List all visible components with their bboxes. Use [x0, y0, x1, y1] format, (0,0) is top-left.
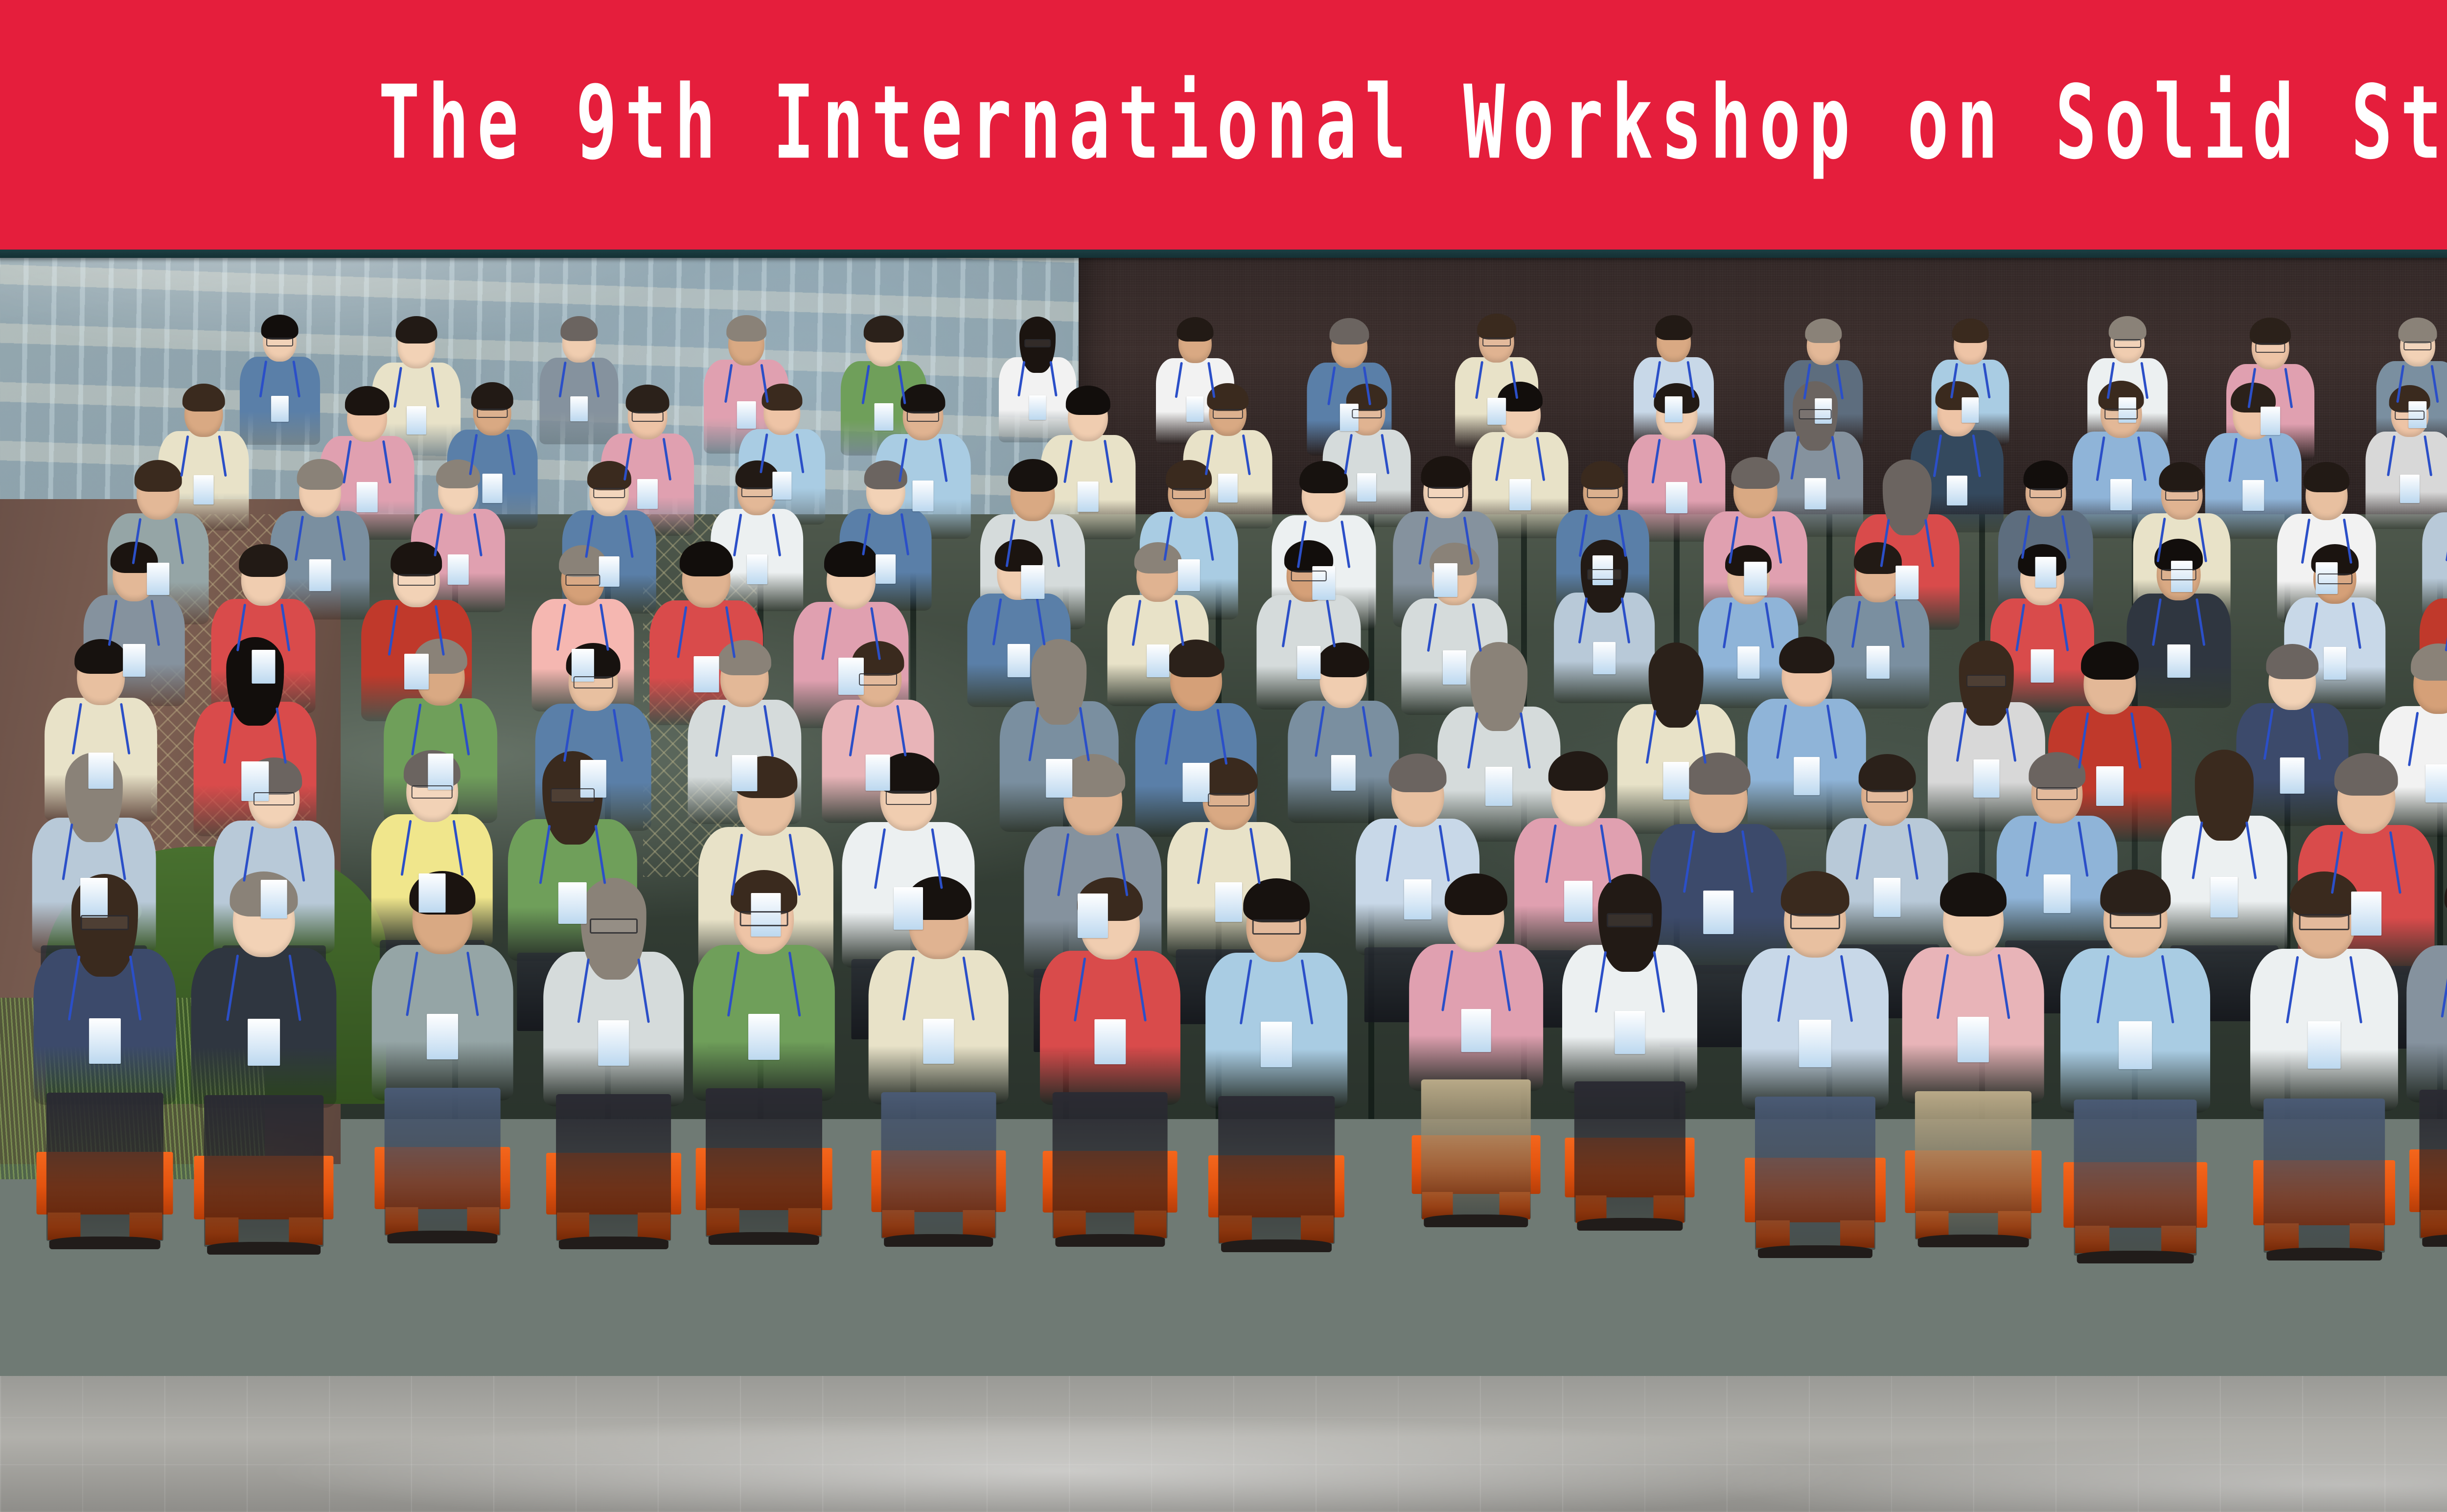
attendee-name-badge: [2035, 557, 2056, 588]
attendee-lanyard: [236, 955, 291, 1022]
attendee-name-badge: [147, 563, 169, 596]
attendee: [1815, 386, 1816, 543]
attendee-lanyard: [232, 708, 278, 764]
attendee-lanyard: [1586, 597, 1623, 644]
attendee-hair: [863, 316, 904, 343]
attendee-glasses: [739, 911, 788, 926]
attendee-hair: [2303, 462, 2350, 493]
attendee-hair: [1655, 315, 1693, 340]
attendee-lanyard: [857, 705, 899, 757]
attendee-name-badge: [732, 755, 757, 791]
attendee: [1343, 648, 1343, 830]
attendee-hair: [626, 385, 669, 413]
attendee-glasses: [477, 409, 508, 418]
attendee-hair: [2109, 316, 2147, 341]
attendee: [458, 464, 459, 618]
attendee-name-badge: [1215, 882, 1243, 922]
attendee-glasses: [1867, 790, 1908, 803]
attendee-hair: [727, 315, 766, 342]
attendee-name-badge: [2243, 480, 2264, 511]
attendee-name-badge: [923, 1019, 954, 1064]
attendee: [613, 885, 614, 1115]
attendee-lanyard: [1784, 705, 1829, 759]
attendee-lanyard: [265, 361, 295, 398]
conference-group-photo-poster: The 9th International Workshop on Solid …: [0, 0, 2447, 1512]
attendee-name-badge: [1564, 881, 1593, 922]
attendee-lanyard: [765, 434, 798, 474]
attendee-glasses: [741, 487, 773, 497]
attendee: [1878, 548, 1878, 715]
attendee-lanyard: [1013, 519, 1052, 568]
attendee-lanyard: [2296, 956, 2352, 1024]
attendee-name-badge: [1147, 644, 1170, 677]
attendee: [2324, 879, 2325, 1121]
attendee-hair: [1421, 456, 1471, 489]
attendee-name-badge: [1593, 642, 1616, 674]
attendee-lanyard: [1787, 955, 1842, 1023]
attendee-name-badge: [1443, 650, 1466, 685]
attendee-shoes: [207, 1242, 321, 1255]
attendee-lanyard: [1139, 600, 1177, 646]
attendee-name-badge: [772, 472, 791, 500]
attendee-lanyard: [1659, 361, 1688, 398]
attendee: [938, 884, 939, 1113]
attendee-lanyard: [1394, 825, 1441, 882]
attendee-name-badge: [89, 1018, 120, 1064]
attendee-name-badge: [1357, 473, 1377, 502]
attendee-hair: [1805, 319, 1842, 343]
attendee: [1499, 648, 1499, 849]
attendee-legs: [1915, 1091, 2031, 1239]
attendee: [1476, 881, 1477, 1100]
attendee-hair: [901, 384, 946, 414]
attendee: [2253, 388, 2254, 545]
attendee-glasses: [397, 574, 435, 586]
attendee-lanyard: [731, 364, 762, 403]
attendee-name-badge: [2425, 764, 2447, 802]
attendee: [320, 464, 320, 626]
attendee: [416, 321, 416, 466]
attendee-glasses: [412, 785, 453, 799]
attendee-glasses: [565, 574, 600, 585]
attendee-glasses: [859, 673, 897, 686]
attendee: [1887, 761, 1888, 961]
attendee-lanyard: [1322, 706, 1364, 757]
attendee: [105, 882, 105, 1114]
attendee-lanyard: [349, 440, 385, 484]
attendee-name-badge: [1021, 565, 1044, 599]
attendee-lanyard: [905, 438, 941, 482]
attendee-name-badge: [428, 754, 453, 790]
attendee: [1604, 545, 1605, 710]
attendee-glasses: [551, 788, 595, 802]
attendee-name-badge: [1665, 396, 1683, 422]
attendee-glasses: [1172, 488, 1205, 499]
attendee-name-badge: [1078, 481, 1099, 512]
attendee-glasses: [2036, 787, 2078, 800]
attendee-glasses: [1799, 409, 1832, 419]
attendee-name-badge: [123, 644, 145, 676]
attendee-hair: [1066, 386, 1110, 415]
attendee: [1957, 387, 1957, 539]
attendee-lanyard: [1023, 361, 1052, 397]
attendee-glasses: [590, 918, 638, 934]
attendee-lanyard: [1659, 439, 1695, 484]
attendee-lanyard: [2028, 515, 2064, 559]
attendee-name-badge: [1434, 563, 1457, 597]
attendee-name-badge: [1182, 763, 1209, 802]
attendee: [1718, 760, 1719, 983]
attendee-name-badge: [404, 654, 429, 689]
attendee-name-badge: [357, 482, 378, 512]
attendee-name-badge: [1487, 398, 1506, 425]
attendee-name-badge: [1744, 562, 1767, 595]
attendee-lanyard: [1730, 602, 1767, 649]
attendee-name-badge: [1029, 395, 1046, 420]
attendee-lanyard: [1290, 600, 1329, 648]
attendee-shoes: [1056, 1234, 1165, 1247]
attendee: [203, 389, 204, 536]
attendee-name-badge: [1873, 878, 1900, 917]
attendee-name-badge: [1615, 1011, 1645, 1054]
attendee-name-badge: [2280, 757, 2305, 794]
attendee-lanyard: [2107, 955, 2164, 1024]
attendee-name-badge: [1799, 1020, 1831, 1067]
event-banner: The 9th International Workshop on Solid …: [0, 0, 2447, 250]
attendee-name-badge: [89, 753, 114, 789]
attendee-name-badge: [571, 396, 588, 422]
attendee-name-badge: [418, 873, 445, 913]
attendee-lanyard: [1070, 440, 1106, 483]
attendee: [1578, 758, 1578, 967]
attendee-lanyard: [1476, 712, 1522, 769]
attendee-lanyard: [80, 703, 122, 755]
attendee-name-badge: [248, 1019, 280, 1066]
attendee-name-badge: [1461, 1009, 1491, 1052]
attendee-name-badge: [1178, 559, 1200, 591]
attendee-legs: [204, 1095, 323, 1247]
attendee-shoes: [2077, 1251, 2194, 1263]
attendee-lanyard: [564, 604, 602, 651]
attendee: [2292, 650, 2292, 834]
attendee: [1276, 886, 1277, 1118]
attendee-glasses: [2030, 488, 2062, 499]
attendee: [2110, 648, 2110, 850]
attendee: [1018, 545, 1019, 713]
attendee-lanyard: [139, 518, 177, 565]
attendee: [134, 547, 135, 712]
attendee-lanyard: [395, 605, 437, 656]
attendee-shoes: [709, 1232, 819, 1245]
attendee-lanyard: [440, 513, 476, 557]
attendee-hair: [471, 382, 514, 410]
attendee-lanyard: [1481, 361, 1512, 399]
attendee-name-badge: [2044, 874, 2071, 913]
attendee-name-badge: [1663, 762, 1689, 800]
attendee-lanyard: [2341, 831, 2392, 894]
attendee-name-badge: [874, 403, 893, 431]
attendee: [1676, 649, 1676, 842]
attendee-legs: [556, 1094, 671, 1241]
attendee-lanyard: [2087, 712, 2133, 769]
attendee-hair: [2024, 460, 2068, 490]
attendee-hair: [561, 316, 598, 341]
attendee-name-badge: [894, 887, 923, 930]
attendee-name-badge: [2111, 479, 2132, 510]
attendee: [2178, 544, 2179, 714]
attendee-lanyard: [1888, 519, 1927, 568]
attendee: [2057, 759, 2057, 956]
attendee: [1630, 881, 1630, 1102]
attendee-glasses: [2165, 490, 2198, 501]
attendee-lanyard: [1864, 824, 1910, 880]
attendee-hair: [1177, 317, 1213, 342]
attendee-lanyard: [1205, 828, 1251, 885]
attendee-shoes: [388, 1231, 498, 1243]
attendee-lanyard: [2271, 709, 2313, 760]
attendee-legs: [1218, 1096, 1334, 1244]
attendee-lanyard: [400, 367, 433, 408]
attendee-name-badge: [2031, 649, 2054, 683]
attendee-name-badge: [2096, 766, 2124, 806]
attendee: [885, 465, 886, 617]
attendee: [1158, 548, 1158, 713]
attendee-lanyard: [244, 604, 283, 652]
attendee: [1806, 643, 1807, 837]
attendee: [1195, 321, 1195, 450]
attendee: [1366, 388, 1367, 532]
attendee-name-badge: [2119, 1021, 2152, 1069]
attendee-lanyard: [740, 834, 791, 896]
attendee-name-badge: [1805, 478, 1826, 509]
attendee-lanyard: [630, 438, 665, 481]
attendee: [1227, 388, 1228, 534]
attendee-name-badge: [1973, 759, 1999, 797]
attendee-name-badge: [2324, 647, 2346, 680]
attendee-legs: [46, 1093, 163, 1241]
attendee-lanyard: [723, 705, 766, 757]
attendee: [572, 758, 573, 969]
attendee-name-badge: [1958, 1017, 1989, 1062]
attendee-name-badge: [913, 481, 934, 511]
attendee-legs: [1421, 1079, 1531, 1219]
attendee-name-badge: [747, 554, 767, 584]
attendee-lanyard: [2164, 518, 2200, 563]
attendee-lanyard: [2308, 519, 2345, 564]
attendee-hair: [2445, 871, 2447, 915]
attendee: [609, 466, 609, 620]
attendee-name-badge: [1007, 644, 1030, 677]
attendee-glasses: [1252, 919, 1301, 935]
attendee: [1986, 647, 1986, 839]
attendee-glasses: [632, 412, 664, 421]
attendee-lanyard: [419, 704, 462, 756]
attendee-lanyard: [1502, 437, 1538, 481]
attendee-lanyard: [1173, 709, 1219, 765]
attendee-name-badge: [2308, 1021, 2341, 1069]
attendee-glasses: [2114, 339, 2141, 348]
attendee-legs: [2420, 1090, 2447, 1238]
attendee-name-badge: [599, 556, 620, 587]
attendee-lanyard: [2254, 368, 2286, 409]
attendee-legs: [2263, 1099, 2385, 1253]
attendee-lanyard: [252, 826, 297, 882]
attendee-lanyard: [2159, 598, 2198, 646]
attendee-lanyard: [1434, 603, 1474, 652]
attendee-lanyard: [564, 362, 594, 398]
attendee-lanyard: [685, 606, 728, 659]
attendee-glasses: [1790, 914, 1840, 929]
attendee-lanyard: [2103, 436, 2139, 481]
attendee-name-badge: [1947, 476, 1967, 505]
attendee-name-badge: [694, 656, 719, 693]
attendee-lanyard: [1798, 436, 1833, 480]
attendee-glasses: [574, 676, 613, 688]
attendee: [442, 878, 443, 1109]
attendee-name-badge: [1485, 767, 1513, 806]
attendee-shoes: [2266, 1248, 2382, 1260]
attendee-name-badge: [194, 475, 214, 504]
attendee-name-badge: [1261, 1022, 1292, 1067]
attendee-hair: [395, 316, 437, 344]
attendee-name-badge: [558, 882, 587, 924]
attendee-glasses: [886, 791, 931, 805]
attendee-lanyard: [1171, 516, 1207, 561]
attendee-lanyard: [2023, 604, 2061, 652]
attendee-name-badge: [1186, 396, 1203, 421]
attendee-shoes: [1221, 1239, 1332, 1252]
attendee-glasses: [1428, 487, 1463, 498]
attendee: [908, 759, 909, 976]
attendee-name-badge: [482, 474, 502, 503]
attendee-hair: [1581, 461, 1624, 490]
attendee: [1110, 885, 1110, 1114]
attendee: [1059, 645, 1059, 840]
attendee-lanyard: [1585, 514, 1620, 557]
attendee-hair: [1329, 318, 1369, 344]
attendee-lanyard: [1211, 435, 1244, 476]
attendee-hair: [1477, 314, 1516, 340]
attendee-glasses: [2110, 913, 2161, 929]
attendee-glasses: [593, 488, 625, 498]
attendee-glasses: [1482, 338, 1511, 346]
attendee-lanyard: [1654, 710, 1698, 764]
attendee-lanyard: [868, 513, 903, 556]
attendee-name-badge: [1404, 879, 1431, 919]
attendee-torso: [2407, 945, 2447, 1102]
attendee-shoes: [1577, 1218, 1683, 1231]
attendee-lanyard: [868, 365, 900, 405]
attendee-lanyard: [1180, 362, 1210, 398]
attendee-glasses: [2318, 573, 2353, 584]
attendee: [1815, 879, 1815, 1119]
attendee: [877, 647, 878, 830]
attendee-lanyard: [1333, 367, 1365, 406]
attendee-hair: [2159, 462, 2205, 492]
attendee-name-badge: [2351, 892, 2381, 936]
attendee-glasses: [1208, 793, 1250, 806]
attendee-lanyard: [2113, 362, 2143, 399]
attendee-lanyard: [1809, 364, 1838, 400]
attendee-lanyard: [2235, 438, 2271, 482]
attendee-lanyard: [1859, 601, 1897, 648]
attendee-shoes: [1918, 1235, 2029, 1247]
attendee-lanyard: [548, 825, 597, 885]
attendee-legs: [1574, 1081, 1685, 1222]
attendee-shoes: [49, 1237, 161, 1249]
attendee-lanyard: [1946, 954, 2000, 1020]
attendee-lanyard: [592, 515, 627, 558]
attendee-lanyard: [115, 600, 153, 646]
attendee-lanyard: [1304, 521, 1343, 569]
attendee-name-badge: [260, 880, 287, 918]
attendee-name-badge: [1509, 479, 1530, 510]
attendee-name-badge: [2167, 644, 2190, 678]
attendee-legs: [881, 1092, 996, 1238]
attendee-lanyard: [71, 824, 117, 881]
attendee-glasses: [1607, 913, 1653, 928]
attendee-hair: [183, 384, 225, 412]
attendee-name-badge: [1218, 474, 1237, 503]
attendee-shoes: [1424, 1214, 1528, 1227]
attendee-glasses: [2403, 342, 2431, 350]
attendee-lanyard: [738, 952, 791, 1017]
attendee-glasses: [2255, 343, 2285, 352]
attendee-name-badge: [2210, 877, 2238, 917]
attendee: [279, 319, 280, 450]
attendee: [1088, 390, 1088, 545]
stone-pavement: [0, 1376, 2447, 1512]
attendee-lanyard: [830, 607, 873, 661]
attendee-name-badge: [1046, 759, 1072, 797]
attendee-glasses: [1352, 409, 1382, 418]
attendee-name-badge: [637, 479, 658, 509]
attendee-shoes: [558, 1237, 668, 1249]
attendee-name-badge: [1666, 482, 1687, 513]
attendee-name-badge: [1794, 757, 1820, 795]
attendee-lanyard: [1037, 707, 1081, 762]
attendee-glasses: [1212, 409, 1243, 419]
attendee-lanyard: [587, 959, 640, 1024]
attendee-lanyard: [1451, 950, 1501, 1012]
attendee-hair: [2398, 318, 2437, 344]
attendee-name-badge: [2261, 407, 2280, 435]
attendee: [763, 878, 764, 1110]
attendee-name-badge: [1331, 755, 1355, 791]
event-title: The 9th International Workshop on Solid …: [378, 0, 2447, 174]
attendee-name-badge: [865, 755, 890, 791]
attendee: [757, 465, 757, 617]
attendee-name-badge: [1703, 891, 1733, 935]
attendee-glasses: [266, 338, 294, 346]
attendee-lanyard: [884, 828, 933, 890]
attendee-name-badge: [1895, 566, 1918, 599]
attendee-lanyard: [1067, 833, 1118, 897]
attendee-glasses: [1587, 488, 1618, 498]
attendee-name-badge: [309, 559, 331, 591]
attendee: [1309, 546, 1309, 716]
attendee-hair: [1859, 754, 1916, 792]
attendee-lanyard: [301, 516, 339, 561]
attendee-lanyard: [2034, 822, 2079, 877]
attendee-name-badge: [406, 406, 426, 435]
attendee-lanyard: [1605, 951, 1655, 1013]
attendee-glasses: [1966, 675, 2007, 687]
attendee-name-badge: [1737, 646, 1759, 679]
attendee-lanyard: [475, 434, 509, 476]
attendee: [1973, 880, 1973, 1113]
attendee-hair: [1952, 319, 1989, 343]
